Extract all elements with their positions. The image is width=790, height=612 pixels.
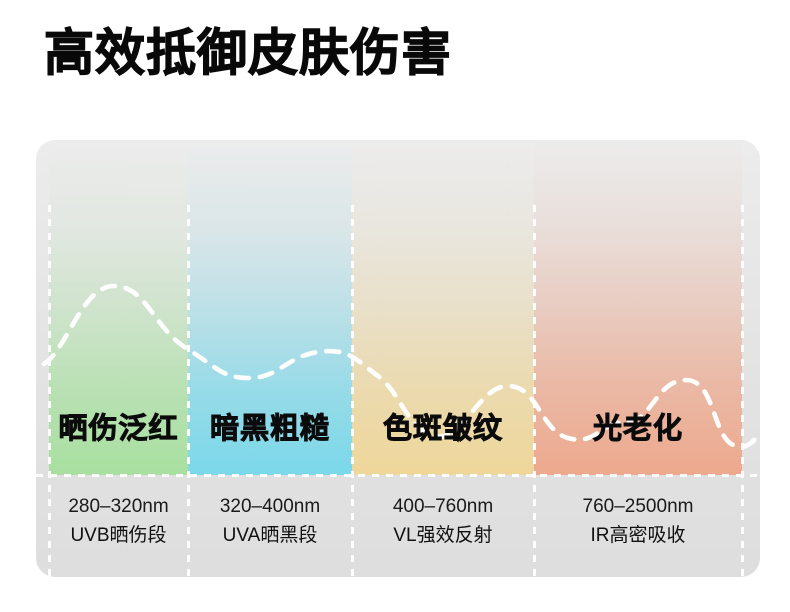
band-label-uvb: 晒伤泛红 bbox=[49, 412, 188, 446]
page-title: 高效抵御皮肤伤害 bbox=[44, 23, 452, 83]
band-name-ir: IR高密吸收 bbox=[534, 521, 742, 550]
band-name-uva: UVA晒黑段 bbox=[188, 521, 352, 550]
band-name-uvb: UVB晒伤段 bbox=[49, 521, 188, 550]
band-range-uva: 320–400nm bbox=[188, 492, 352, 521]
band-name-vl: VL强效反射 bbox=[352, 521, 534, 550]
band-label-vl: 色斑皱纹 bbox=[352, 412, 534, 446]
band-range-uvb: 280–320nm bbox=[49, 492, 188, 521]
band-label-uva: 暗黑粗糙 bbox=[188, 412, 352, 446]
band-label-ir: 光老化 bbox=[534, 412, 742, 446]
spectrum-panel: 晒伤泛红 暗黑粗糙 色斑皱纹 光老化 280–320nm UVB晒伤段 320–… bbox=[36, 140, 760, 577]
band-spec-vl: 400–760nm VL强效反射 bbox=[352, 492, 534, 550]
band-range-vl: 400–760nm bbox=[352, 492, 534, 521]
band-spec-uvb: 280–320nm UVB晒伤段 bbox=[49, 492, 188, 550]
band-range-ir: 760–2500nm bbox=[534, 492, 742, 521]
band-spec-uva: 320–400nm UVA晒黑段 bbox=[188, 492, 352, 550]
divider-horizontal bbox=[36, 474, 760, 477]
band-spec-ir: 760–2500nm IR高密吸收 bbox=[534, 492, 742, 550]
